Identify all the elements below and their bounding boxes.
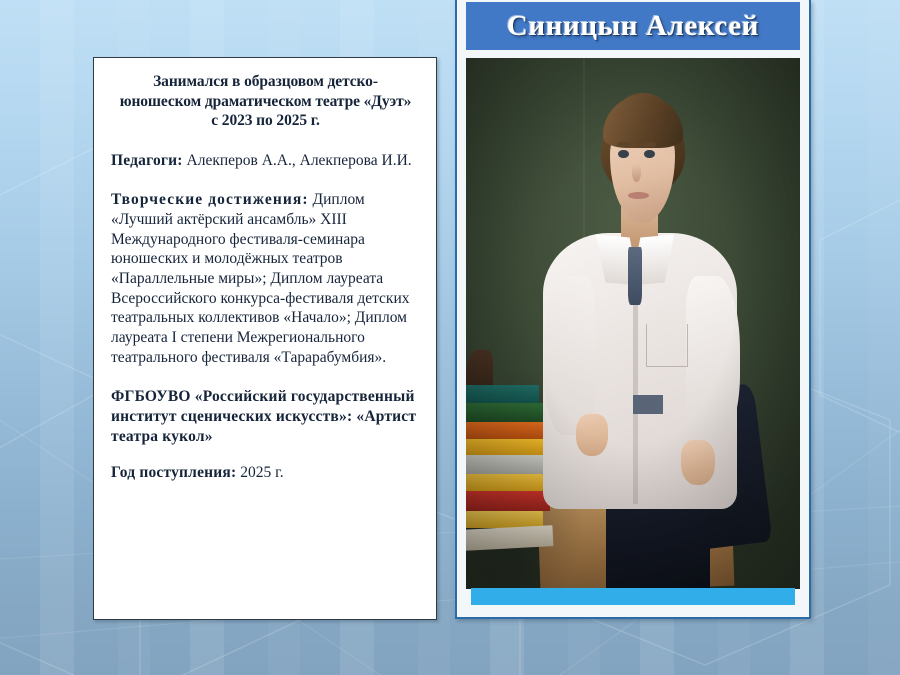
- admission-year-block: Год поступления: 2025 г.: [111, 463, 420, 483]
- admission-year-label: Год поступления:: [111, 464, 236, 481]
- university-block: ФГБОУВО «Российский государственный инст…: [111, 387, 420, 446]
- achievements-value: Диплом «Лучший актёрский ансамбль» XIII …: [111, 191, 410, 365]
- theatre-participation-heading: Занимался в образцовом детско-юношеском …: [115, 72, 416, 131]
- teachers-block: Педагоги: Алекперов А.А., Алекперова И.И…: [111, 151, 420, 171]
- student-name-text: Синицын Алексей: [507, 10, 759, 43]
- student-photo-card: Синицын Алексей: [455, 0, 811, 619]
- university-label: ФГБОУВО «Российский государственный инст…: [111, 388, 416, 444]
- info-text-card: Занимался в образцовом детско-юношеском …: [93, 57, 437, 620]
- teachers-label: Педагоги:: [111, 152, 183, 169]
- achievements-label: Творческие достижения:: [111, 191, 309, 208]
- achievements-block: Творческие достижения: Диплом «Лучший ак…: [111, 190, 420, 367]
- teachers-value: Алекперов А.А., Алекперова И.И.: [183, 152, 412, 169]
- accent-bar: [471, 588, 795, 605]
- portrait-photo-frame: [466, 58, 800, 589]
- student-name-banner: Синицын Алексей: [466, 2, 800, 50]
- portrait-photo: [466, 58, 800, 589]
- slide-root: Занимался в образцовом детско-юношеском …: [0, 0, 900, 675]
- photo-vignette: [466, 58, 800, 589]
- admission-year-value: 2025 г.: [236, 464, 283, 481]
